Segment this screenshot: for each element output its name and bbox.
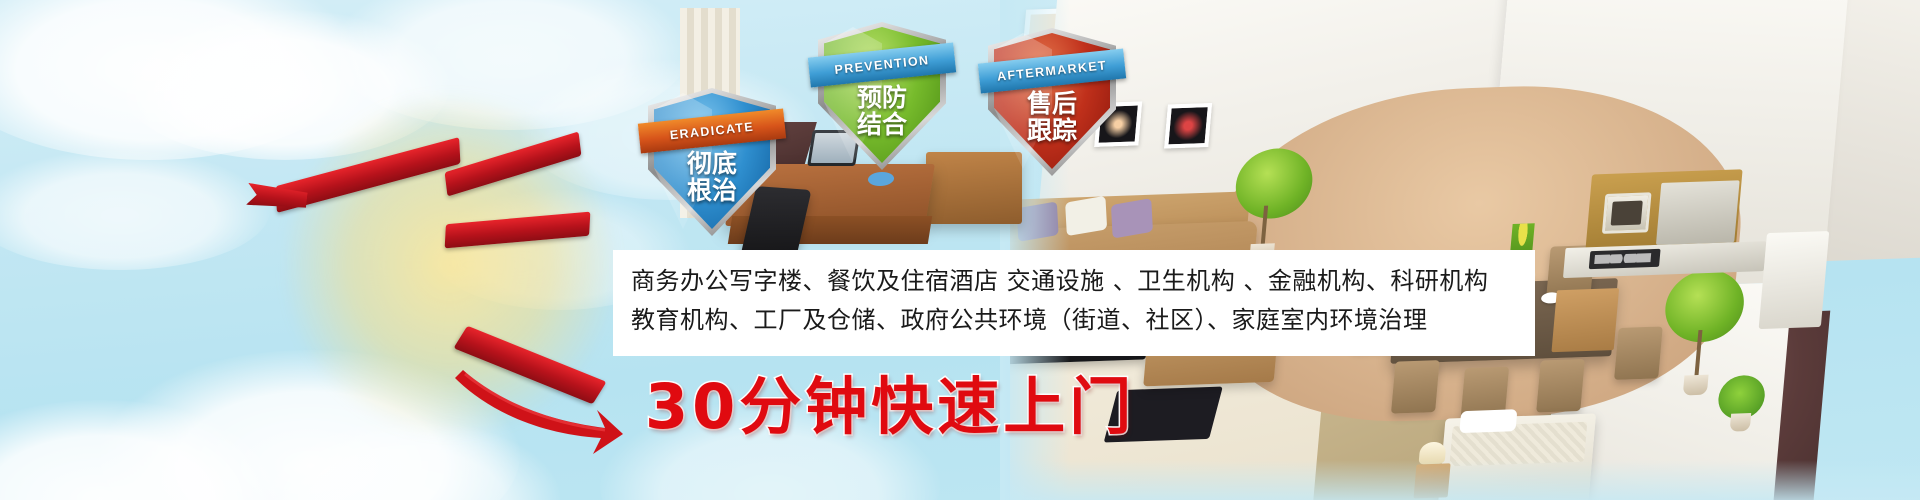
service-scope-line-2: 教育机构、工厂及仓储、政府公共环境（街道、社区）、家庭室内环境治理 bbox=[631, 301, 1535, 340]
cloud-decoration bbox=[0, 400, 280, 500]
sofa-cushion bbox=[1111, 198, 1153, 238]
built-in-oven bbox=[1602, 192, 1652, 234]
service-scope-line-1: 商务办公写字楼、餐饮及住宿酒店 交通设施 、卫生机构 、金融机构、科研机构 bbox=[631, 262, 1535, 301]
kitchen-lower-cabinet bbox=[1551, 288, 1619, 352]
cooktop bbox=[1589, 249, 1661, 269]
badge-prevention[interactable]: PREVENTION 预防 结合 bbox=[818, 22, 946, 170]
badge-cn-line1: 预防 bbox=[818, 84, 946, 111]
badge-en-label: ERADICATE bbox=[669, 120, 755, 143]
nightstand bbox=[1414, 463, 1451, 498]
bed-pillow bbox=[1459, 409, 1517, 433]
badge-en-label: PREVENTION bbox=[834, 53, 930, 77]
badge-cn-line2: 跟踪 bbox=[988, 117, 1116, 144]
dining-chair bbox=[1536, 359, 1585, 413]
dining-chair bbox=[1391, 360, 1440, 414]
badge-cn-label: 彻底 根治 bbox=[648, 150, 776, 204]
badge-aftermarket[interactable]: AFTERMARKET 售后 跟踪 bbox=[988, 28, 1116, 176]
badge-eradicate[interactable]: ERADICATE 彻底 根治 bbox=[648, 88, 776, 236]
badge-cn-line1: 售后 bbox=[988, 90, 1116, 117]
wall-art-frame bbox=[1164, 103, 1212, 149]
service-scope-panel: 商务办公写字楼、餐饮及住宿酒店 交通设施 、卫生机构 、金融机构、科研机构 教育… bbox=[613, 250, 1535, 356]
badge-cn-line2: 根治 bbox=[648, 177, 776, 204]
potted-plant-pot bbox=[1683, 375, 1709, 396]
sofa-cushion bbox=[1065, 196, 1107, 236]
badge-cn-label: 售后 跟踪 bbox=[988, 90, 1116, 144]
red-arrow-icon bbox=[455, 362, 625, 472]
sofa-cushion bbox=[1017, 201, 1059, 241]
promo-banner: 3 ERADICATE 彻底 根治 PREVENTION bbox=[0, 0, 1920, 500]
dining-chair bbox=[1614, 326, 1663, 380]
badge-cn-line2: 结合 bbox=[818, 111, 946, 138]
badge-cn-line1: 彻底 bbox=[648, 150, 776, 177]
cloud-decoration bbox=[0, 150, 270, 270]
range-hood bbox=[1656, 180, 1740, 245]
headline-text: 30分钟快速上门 bbox=[645, 356, 1135, 446]
refrigerator bbox=[1759, 231, 1830, 329]
badge-cn-label: 预防 结合 bbox=[818, 84, 946, 138]
badge-en-label: AFTERMARKET bbox=[996, 58, 1107, 83]
table-lamp bbox=[1419, 442, 1447, 465]
golden-number-graphic: 3 bbox=[255, 70, 645, 460]
